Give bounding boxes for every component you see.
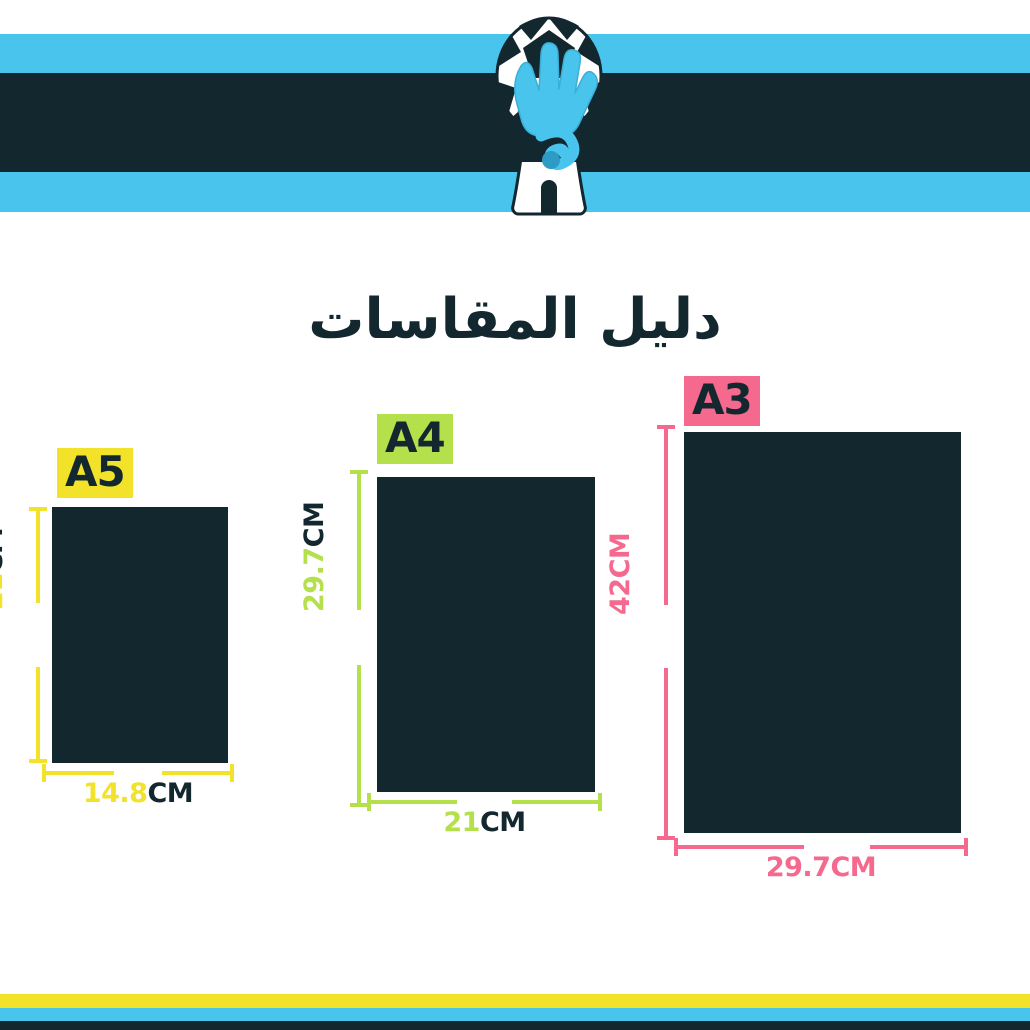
dim-bar-left-a4	[367, 800, 457, 804]
dim-value-width-a4: 21	[443, 807, 480, 838]
size-badge-a3: A3	[684, 376, 760, 426]
dimension-line-horizontal-a3	[674, 845, 968, 849]
paper-size-group-a4: A4 29.7CM 21CM	[320, 400, 640, 850]
size-badge-a5: A5	[57, 448, 133, 498]
dim-value-height-a5: 21	[0, 573, 9, 610]
footer-stripe-navy	[0, 1021, 1030, 1030]
dim-unit-width-a5: CM	[147, 778, 193, 809]
dim-value-width-a3: 29.7	[766, 852, 831, 883]
footer-stripe-cyan	[0, 1008, 1030, 1021]
dim-bar-upper-a4	[357, 470, 361, 610]
dimension-label-width-a5: 14.8CM	[42, 780, 234, 807]
dimension-line-vertical-a5	[36, 507, 40, 763]
dim-cap-bottom-a3	[657, 836, 675, 840]
dim-bar-right-a3	[870, 845, 968, 849]
dimension-label-height-a3: 42CM	[607, 533, 634, 615]
dim-cap-bottom-a5	[29, 759, 47, 763]
trophy-base-notch	[541, 180, 557, 214]
paper-size-group-a5: A5 21CM 14.8CM	[0, 430, 300, 820]
dimension-line-vertical-a4	[357, 470, 361, 807]
dim-bar-left-a5	[42, 771, 114, 775]
dimension-label-width-a3: 29.7CM	[674, 854, 968, 881]
dim-bar-right-a5	[162, 771, 234, 775]
goalkeeper-glove-ball-trophy-logo	[489, 8, 609, 228]
dim-bar-left-a3	[674, 845, 804, 849]
dimension-label-width-a4: 21CM	[367, 809, 602, 836]
poster-canvas: دليل المقاسات A5 21CM 14.8CM A4	[0, 0, 1030, 1030]
dim-unit-height-a3: CM	[605, 533, 636, 579]
footer-stripe-yellow	[0, 994, 1030, 1008]
dimension-label-height-a4: 29.7CM	[301, 502, 328, 612]
paper-sheet-a3	[684, 432, 961, 833]
paper-sheet-a5	[52, 507, 228, 763]
dim-unit-width-a3: CM	[830, 852, 876, 883]
size-badge-a4: A4	[377, 414, 453, 464]
dim-bar-right-a4	[512, 800, 602, 804]
paper-size-group-a3: A3 42CM 29.7CM	[620, 360, 1030, 880]
page-title: دليل المقاسات	[0, 286, 1030, 354]
dim-bar-upper-a3	[664, 425, 668, 605]
dim-bar-lower-a5	[36, 667, 40, 763]
dim-bar-upper-a5	[36, 507, 40, 603]
dim-unit-height-a5: CM	[0, 528, 9, 574]
dim-value-height-a4: 29.7	[299, 547, 330, 612]
dimension-line-horizontal-a5	[42, 771, 234, 775]
dim-unit-width-a4: CM	[480, 807, 526, 838]
dimension-label-height-a5: 21CM	[0, 528, 7, 610]
paper-sheet-a4	[377, 477, 595, 792]
dim-value-width-a5: 14.8	[83, 778, 148, 809]
dim-bar-lower-a4	[357, 665, 361, 807]
dimension-line-vertical-a3	[664, 425, 668, 840]
dimension-line-horizontal-a4	[367, 800, 602, 804]
dim-unit-height-a4: CM	[299, 502, 330, 548]
glove-thumb-dot	[542, 151, 560, 169]
dim-bar-lower-a3	[664, 668, 668, 840]
dim-cap-bottom-a4	[350, 803, 368, 807]
dim-value-height-a3: 42	[605, 578, 636, 615]
